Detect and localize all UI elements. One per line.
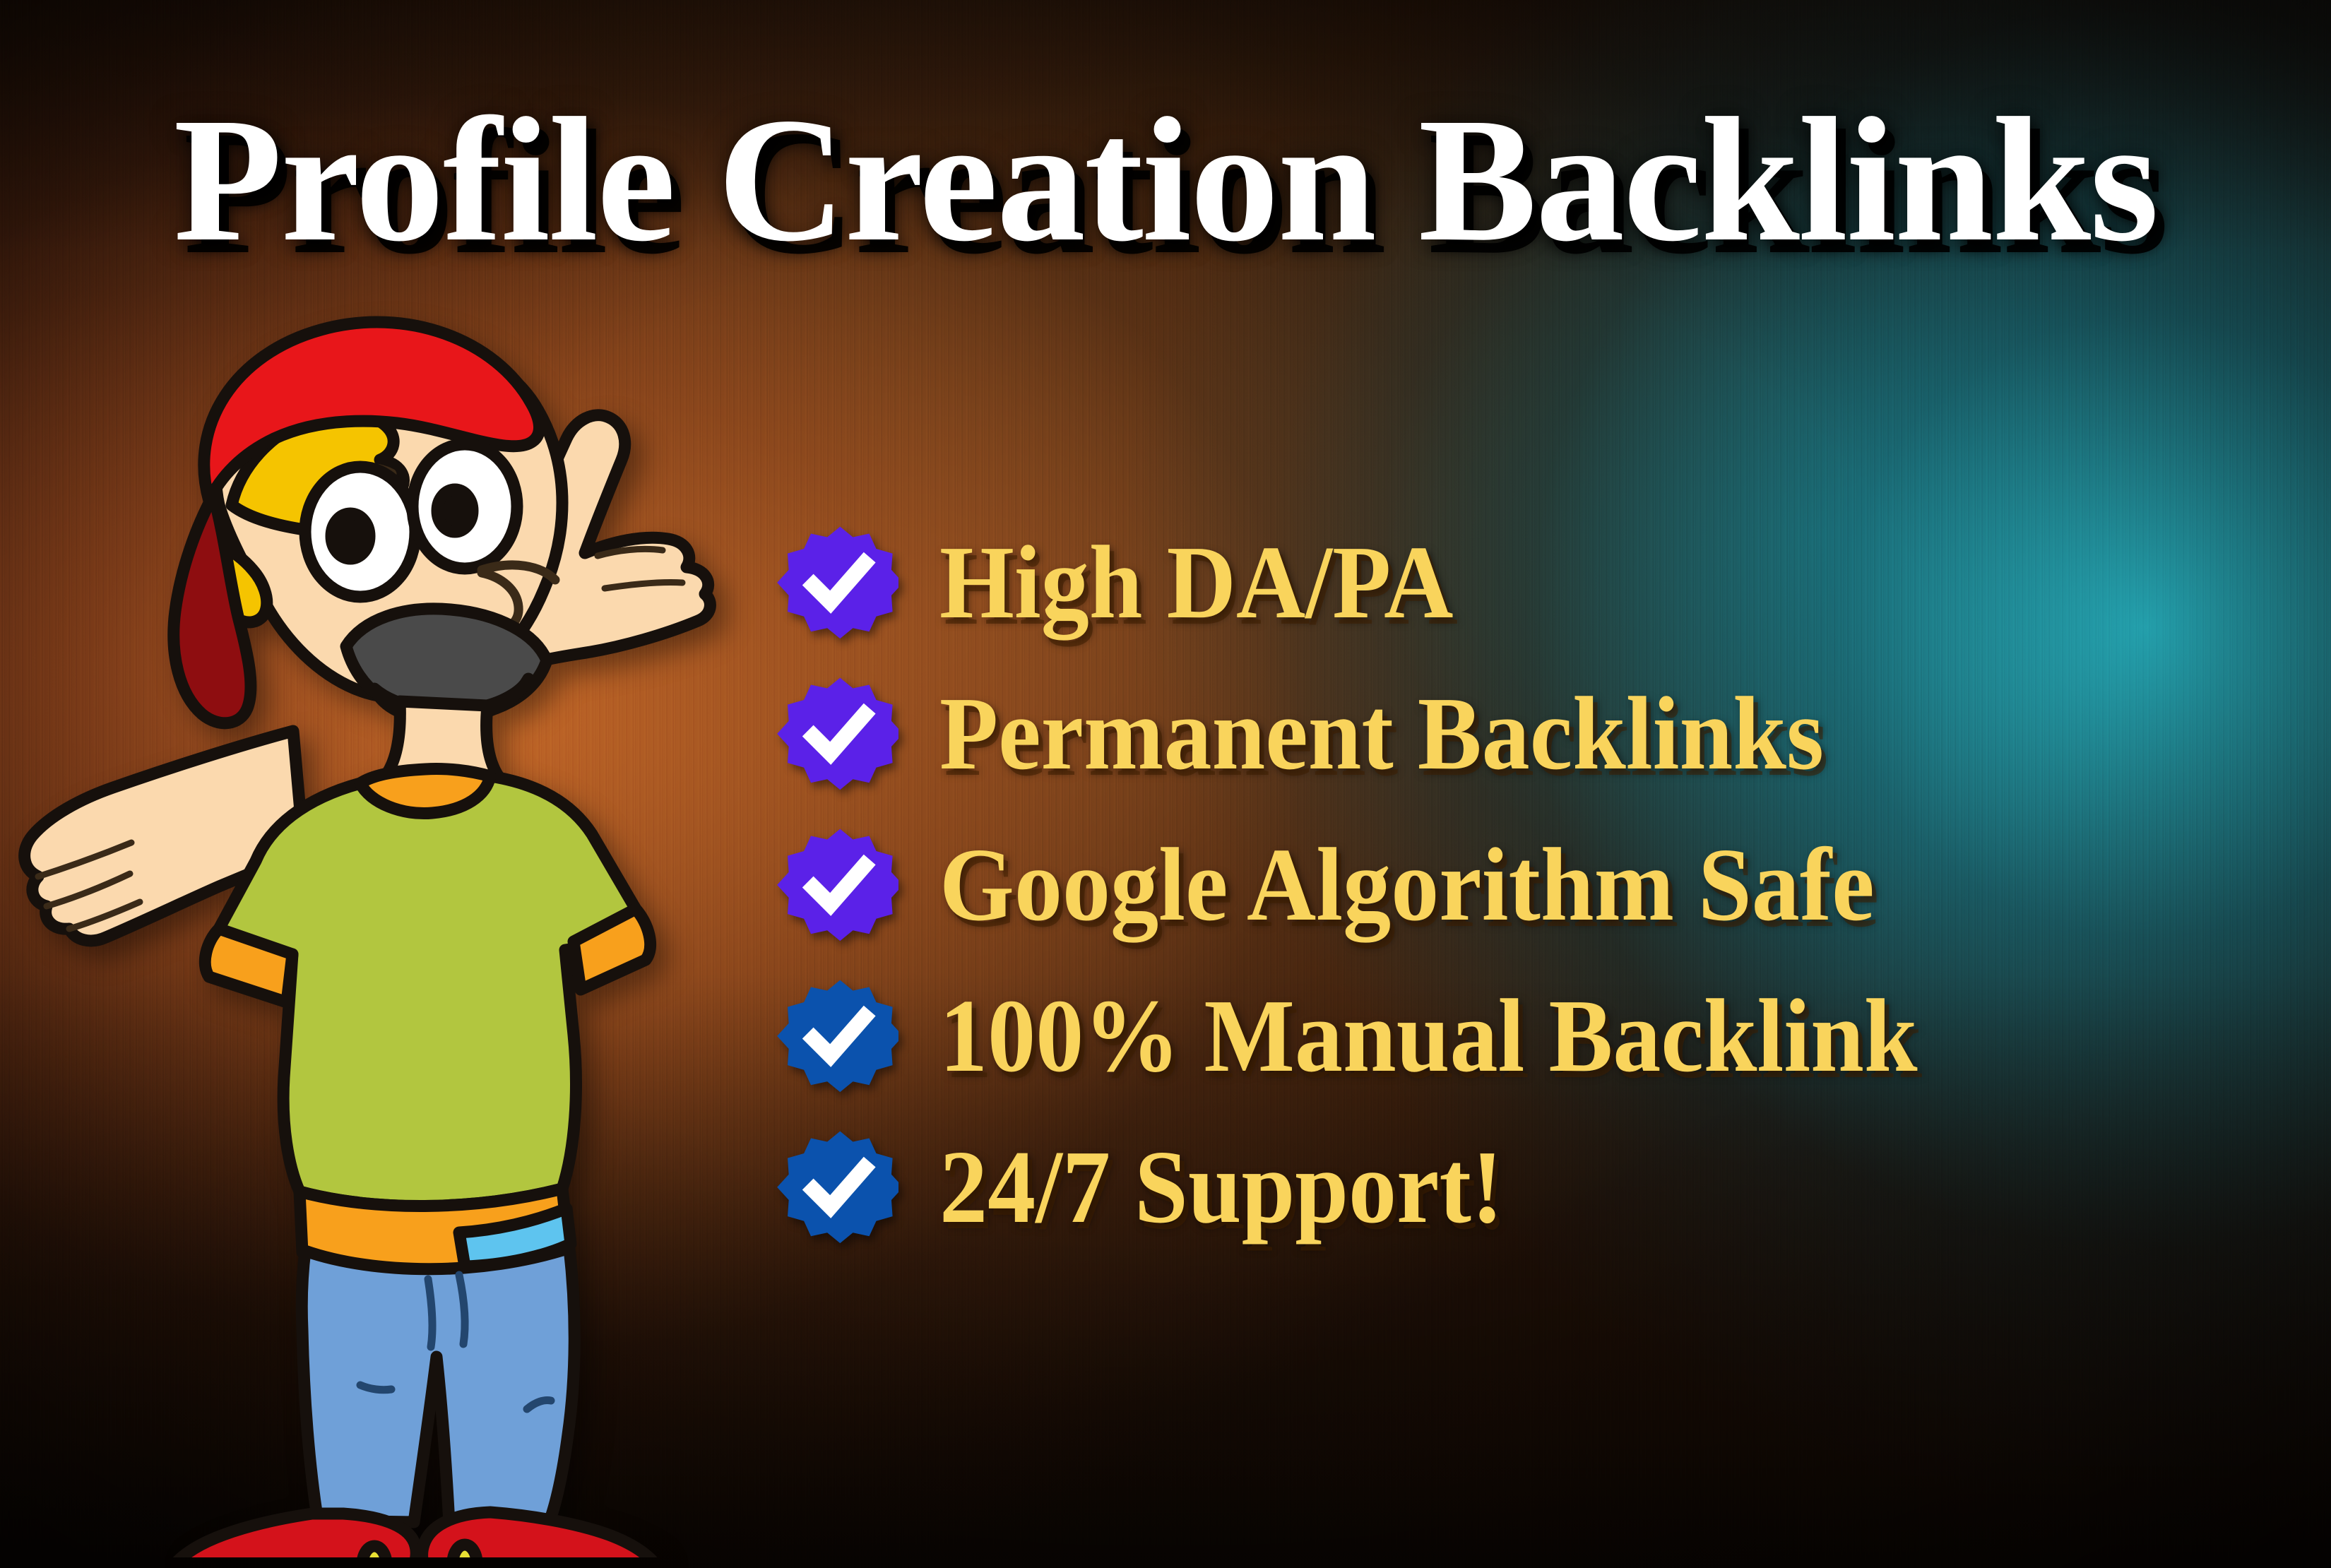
check-badge-icon (777, 673, 898, 795)
feature-label: High DA/PA (939, 530, 1453, 635)
page-title: Profile Creation Backlinks (0, 90, 2331, 268)
feature-label: Google Algorithm Safe (939, 833, 1875, 937)
list-item: 24/7 Support! (777, 1112, 2274, 1263)
list-item: 100% Manual Backlink (777, 961, 2274, 1112)
feature-label: 100% Manual Backlink (939, 984, 1918, 1088)
list-item: Google Algorithm Safe (777, 809, 2274, 961)
list-item: Permanent Backlinks (777, 658, 2274, 809)
list-item: High DA/PA (777, 507, 2274, 658)
check-badge-icon (777, 1127, 898, 1248)
feature-label: Permanent Backlinks (939, 682, 1824, 786)
promo-banner: Profile Creation Backlinks (0, 0, 2331, 1568)
check-badge-icon (777, 522, 898, 643)
feature-label: 24/7 Support! (939, 1135, 1503, 1240)
cartoon-boy-illustration (7, 293, 805, 1557)
feature-list: High DA/PA Permanent Backlinks Google Al… (777, 507, 2274, 1263)
check-badge-icon (777, 824, 898, 946)
check-badge-icon (777, 975, 898, 1097)
